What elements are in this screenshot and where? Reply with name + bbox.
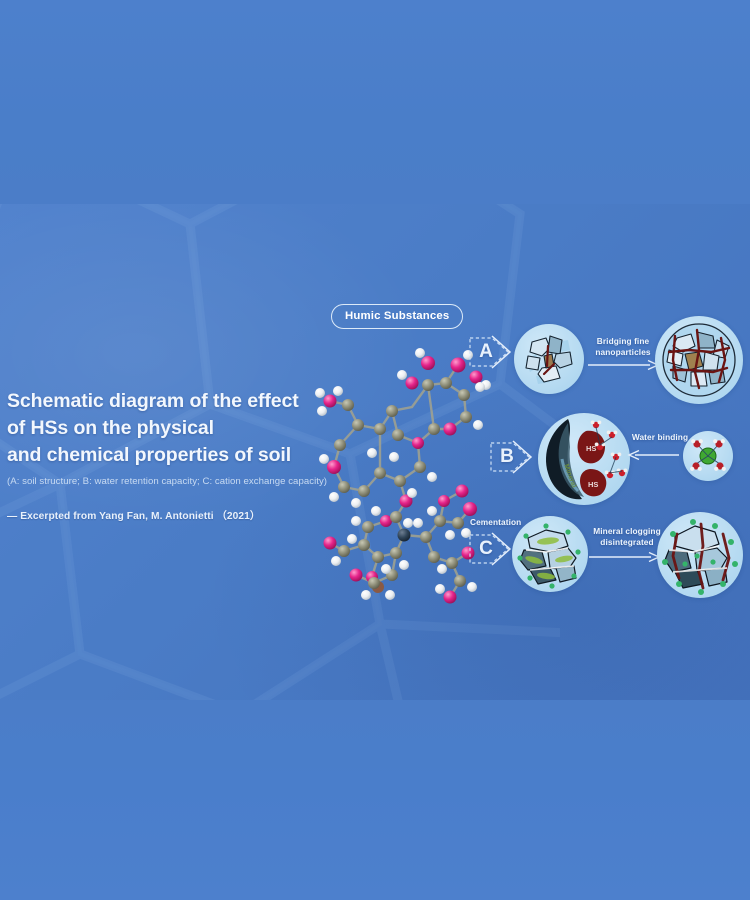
- schematic-figure: Schematic diagram of the effect of HSs o…: [0, 0, 750, 900]
- flow-label-bridging: Bridging fine nanoparticles: [583, 336, 663, 357]
- circle-humic-substance-water-shell: Mineral HS HS: [538, 413, 630, 505]
- circle-soil-aggregate-loose: [514, 324, 584, 394]
- marker-c-letter: C: [474, 536, 498, 562]
- title-line-3: and chemical properties of soil: [7, 442, 347, 469]
- circle-hydrated-cation: [683, 431, 733, 481]
- circle-disintegrated-aggregate: [657, 512, 743, 598]
- page-title: Schematic diagram of the effect of HSs o…: [7, 388, 347, 488]
- circle-mineral-clogged-aggregate: [512, 516, 588, 592]
- title-subtitle: (A: soil structure; B: water retention c…: [7, 475, 347, 488]
- flow-label-mineral-clogging: Mineral clogging disintegrated: [584, 526, 670, 547]
- background-band-top: [0, 0, 750, 204]
- svg-text:HS: HS: [588, 480, 598, 489]
- attribution-line: — Excerpted from Yang Fan, M. Antonietti…: [7, 507, 260, 522]
- title-line-2: of HSs on the physical: [7, 415, 347, 442]
- background-band-bottom: [0, 700, 750, 900]
- marker-b: B: [489, 435, 533, 479]
- flow-label-water-binding: Water binding: [625, 432, 695, 443]
- marker-a: A: [468, 330, 512, 374]
- marker-a-letter: A: [474, 339, 498, 365]
- circle-soil-aggregate-bound: [655, 316, 743, 404]
- marker-c: C: [468, 527, 512, 571]
- marker-b-letter: B: [495, 444, 519, 470]
- title-line-1: Schematic diagram of the effect: [7, 388, 347, 415]
- flow-label-cementation: Cementation: [470, 517, 530, 528]
- svg-text:HS: HS: [586, 444, 596, 453]
- humic-substances-label: Humic Substances: [331, 304, 463, 329]
